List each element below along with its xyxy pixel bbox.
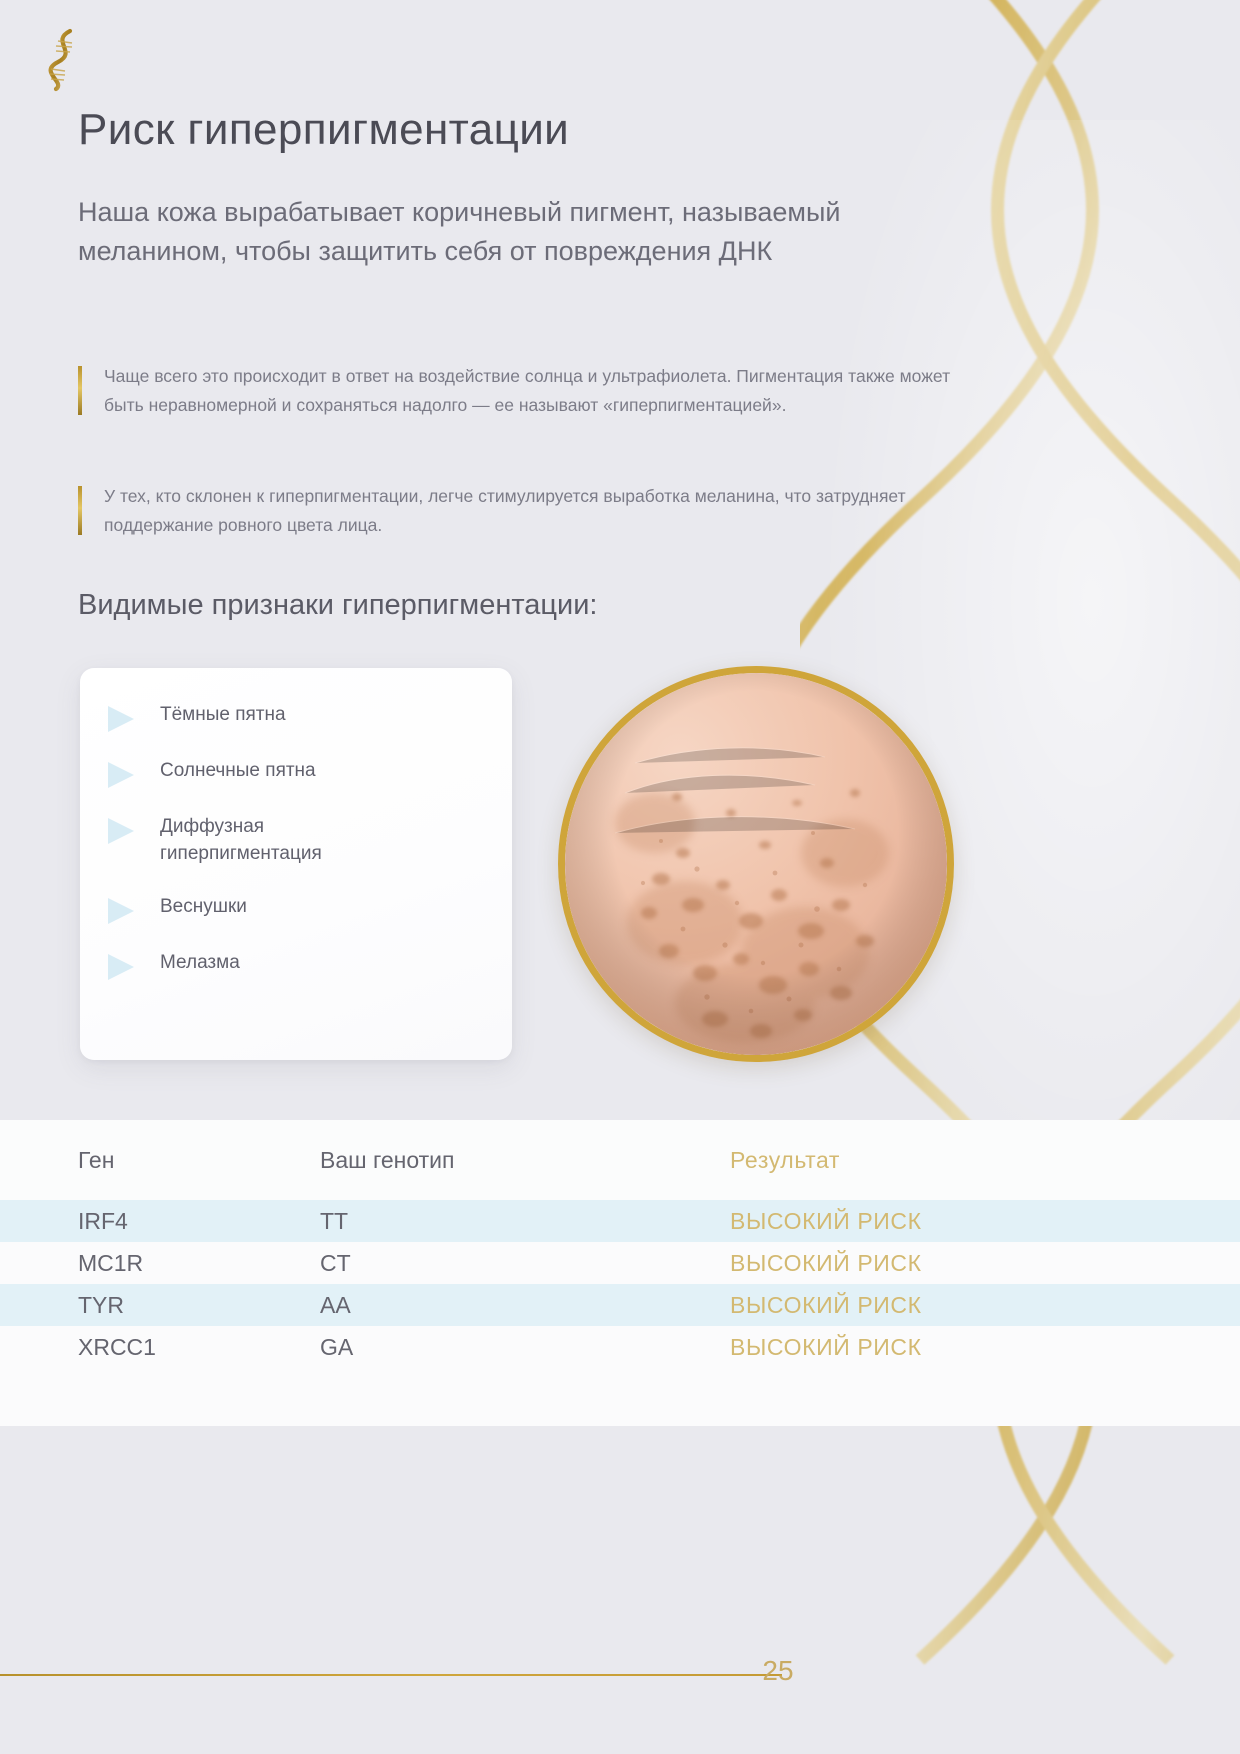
column-header-gene: Ген [0,1147,320,1174]
table-row: IRF4 TT ВЫСОКИЙ РИСК [0,1200,1240,1242]
table-row: MC1R CT ВЫСОКИЙ РИСК [0,1242,1240,1284]
page-number: 25 [738,1655,818,1687]
triangle-bullet-icon [108,898,134,924]
visible-signs-card: Тёмные пятна Солнечные пятна Диффузная г… [80,668,512,1060]
list-item: Диффузная гиперпигментация [108,814,484,868]
list-item-label: Диффузная гиперпигментация [160,814,420,868]
column-header-result: Результат [730,1147,1240,1174]
cell-genotype: CT [320,1250,730,1277]
dna-helix-icon [42,28,86,92]
cell-gene: IRF4 [0,1208,320,1235]
cell-result: ВЫСОКИЙ РИСК [730,1208,1240,1235]
cell-result: ВЫСОКИЙ РИСК [730,1292,1240,1319]
photo-spot-texture [565,673,947,1055]
cell-result: ВЫСОКИЙ РИСК [730,1334,1240,1361]
triangle-bullet-icon [108,954,134,980]
cell-gene: TYR [0,1292,320,1319]
callout-quote-2: У тех, кто склонен к гиперпигментации, л… [78,482,958,539]
list-item: Мелазма [108,950,484,980]
signs-section-heading: Видимые признаки гиперпигментации: [78,589,598,622]
cell-gene: MC1R [0,1250,320,1277]
list-item-label: Тёмные пятна [160,702,286,729]
cell-genotype: GA [320,1334,730,1361]
triangle-bullet-icon [108,706,134,732]
cell-genotype: TT [320,1208,730,1235]
table-bottom-padding [0,1368,1240,1426]
callout-quote-1: Чаще всего это происходит в ответ на воз… [78,362,978,419]
cell-result: ВЫСОКИЙ РИСК [730,1250,1240,1277]
triangle-bullet-icon [108,762,134,788]
table-header-row: Ген Ваш генотип Результат [0,1120,1240,1200]
cell-genotype: AA [320,1292,730,1319]
list-item: Веснушки [108,894,484,924]
skin-hyperpigmentation-photo [558,666,954,1062]
triangle-bullet-icon [108,818,134,844]
list-item-label: Мелазма [160,950,240,977]
column-header-genotype: Ваш генотип [320,1147,730,1174]
page-lead-text: Наша кожа вырабатывает коричневый пигмен… [78,193,958,271]
footer-divider [0,1674,782,1676]
list-item-label: Веснушки [160,894,247,921]
genotype-results-table: Ген Ваш генотип Результат IRF4 TT ВЫСОКИ… [0,1120,1240,1426]
cell-gene: XRCC1 [0,1334,320,1361]
page-title: Риск гиперпигментации [78,105,569,155]
list-item: Тёмные пятна [108,702,484,732]
list-item-label: Солнечные пятна [160,758,316,785]
table-row: XRCC1 GA ВЫСОКИЙ РИСК [0,1326,1240,1368]
report-page: Риск гиперпигментации Наша кожа вырабаты… [0,0,1240,1754]
table-row: TYR AA ВЫСОКИЙ РИСК [0,1284,1240,1326]
list-item: Солнечные пятна [108,758,484,788]
